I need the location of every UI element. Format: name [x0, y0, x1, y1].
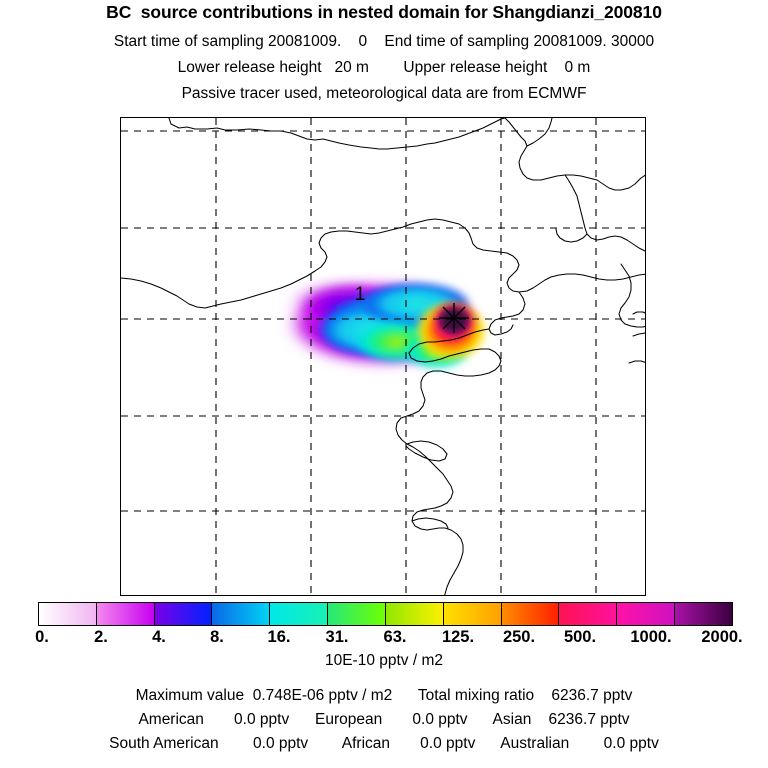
colorbar-bands — [38, 602, 733, 626]
map-canvas: 1 — [121, 118, 646, 596]
colorbar-tick-7: 125. — [442, 628, 474, 647]
colorbar-band-1 — [97, 603, 155, 625]
colorbar-tick-11: 2000. — [701, 628, 742, 647]
colorbar-band-0 — [39, 603, 97, 625]
colorbar-tick-9: 500. — [564, 628, 596, 647]
colorbar-band-10 — [617, 603, 675, 625]
plot-page: BC source contributions in nested domain… — [0, 0, 768, 768]
colorbar-tick-labels: 0. 2. 4. 8. 16. 31. 63. 125. 250. 500. 1… — [0, 628, 768, 648]
colorbar-band-4 — [270, 603, 328, 625]
contribution-line-1: American 0.0 pptv European 0.0 pptv Asia… — [0, 711, 768, 729]
contour-label-1: 1 — [355, 284, 366, 305]
colorbar-band-5 — [328, 603, 386, 625]
colorbar-tick-0: 0. — [35, 628, 49, 647]
colorbar-tick-3: 8. — [210, 628, 224, 647]
colorbar-tick-8: 250. — [503, 628, 535, 647]
tracer-meteorology-line: Passive tracer used, meteorological data… — [0, 85, 768, 103]
sampling-time-line: Start time of sampling 20081009. 0 End t… — [0, 33, 768, 51]
colorbar-tick-4: 16. — [268, 628, 291, 647]
colorbar-band-11 — [675, 603, 732, 625]
maximum-value-line: Maximum value 0.748E-06 pptv / m2 Total … — [0, 687, 768, 705]
colorbar-tick-6: 63. — [384, 628, 407, 647]
colorbar-tick-2: 4. — [152, 628, 166, 647]
colorbar-band-3 — [212, 603, 270, 625]
colorbar-band-9 — [559, 603, 617, 625]
colorbar — [38, 602, 733, 626]
colorbar-band-7 — [444, 603, 502, 625]
colorbar-tick-10: 1000. — [630, 628, 671, 647]
colorbar-band-2 — [155, 603, 213, 625]
colorbar-band-6 — [386, 603, 444, 625]
colorbar-band-8 — [502, 603, 560, 625]
contribution-line-2: South American 0.0 pptv African 0.0 pptv… — [0, 735, 768, 753]
colorbar-axis-label: 10E-10 pptv / m2 — [0, 652, 768, 670]
colorbar-tick-1: 2. — [94, 628, 108, 647]
page-title: BC source contributions in nested domain… — [0, 2, 768, 23]
release-site-star-icon — [439, 303, 469, 333]
release-height-line: Lower release height 20 m Upper release … — [0, 59, 768, 77]
map-panel: 1 — [120, 117, 646, 596]
colorbar-tick-5: 31. — [326, 628, 349, 647]
